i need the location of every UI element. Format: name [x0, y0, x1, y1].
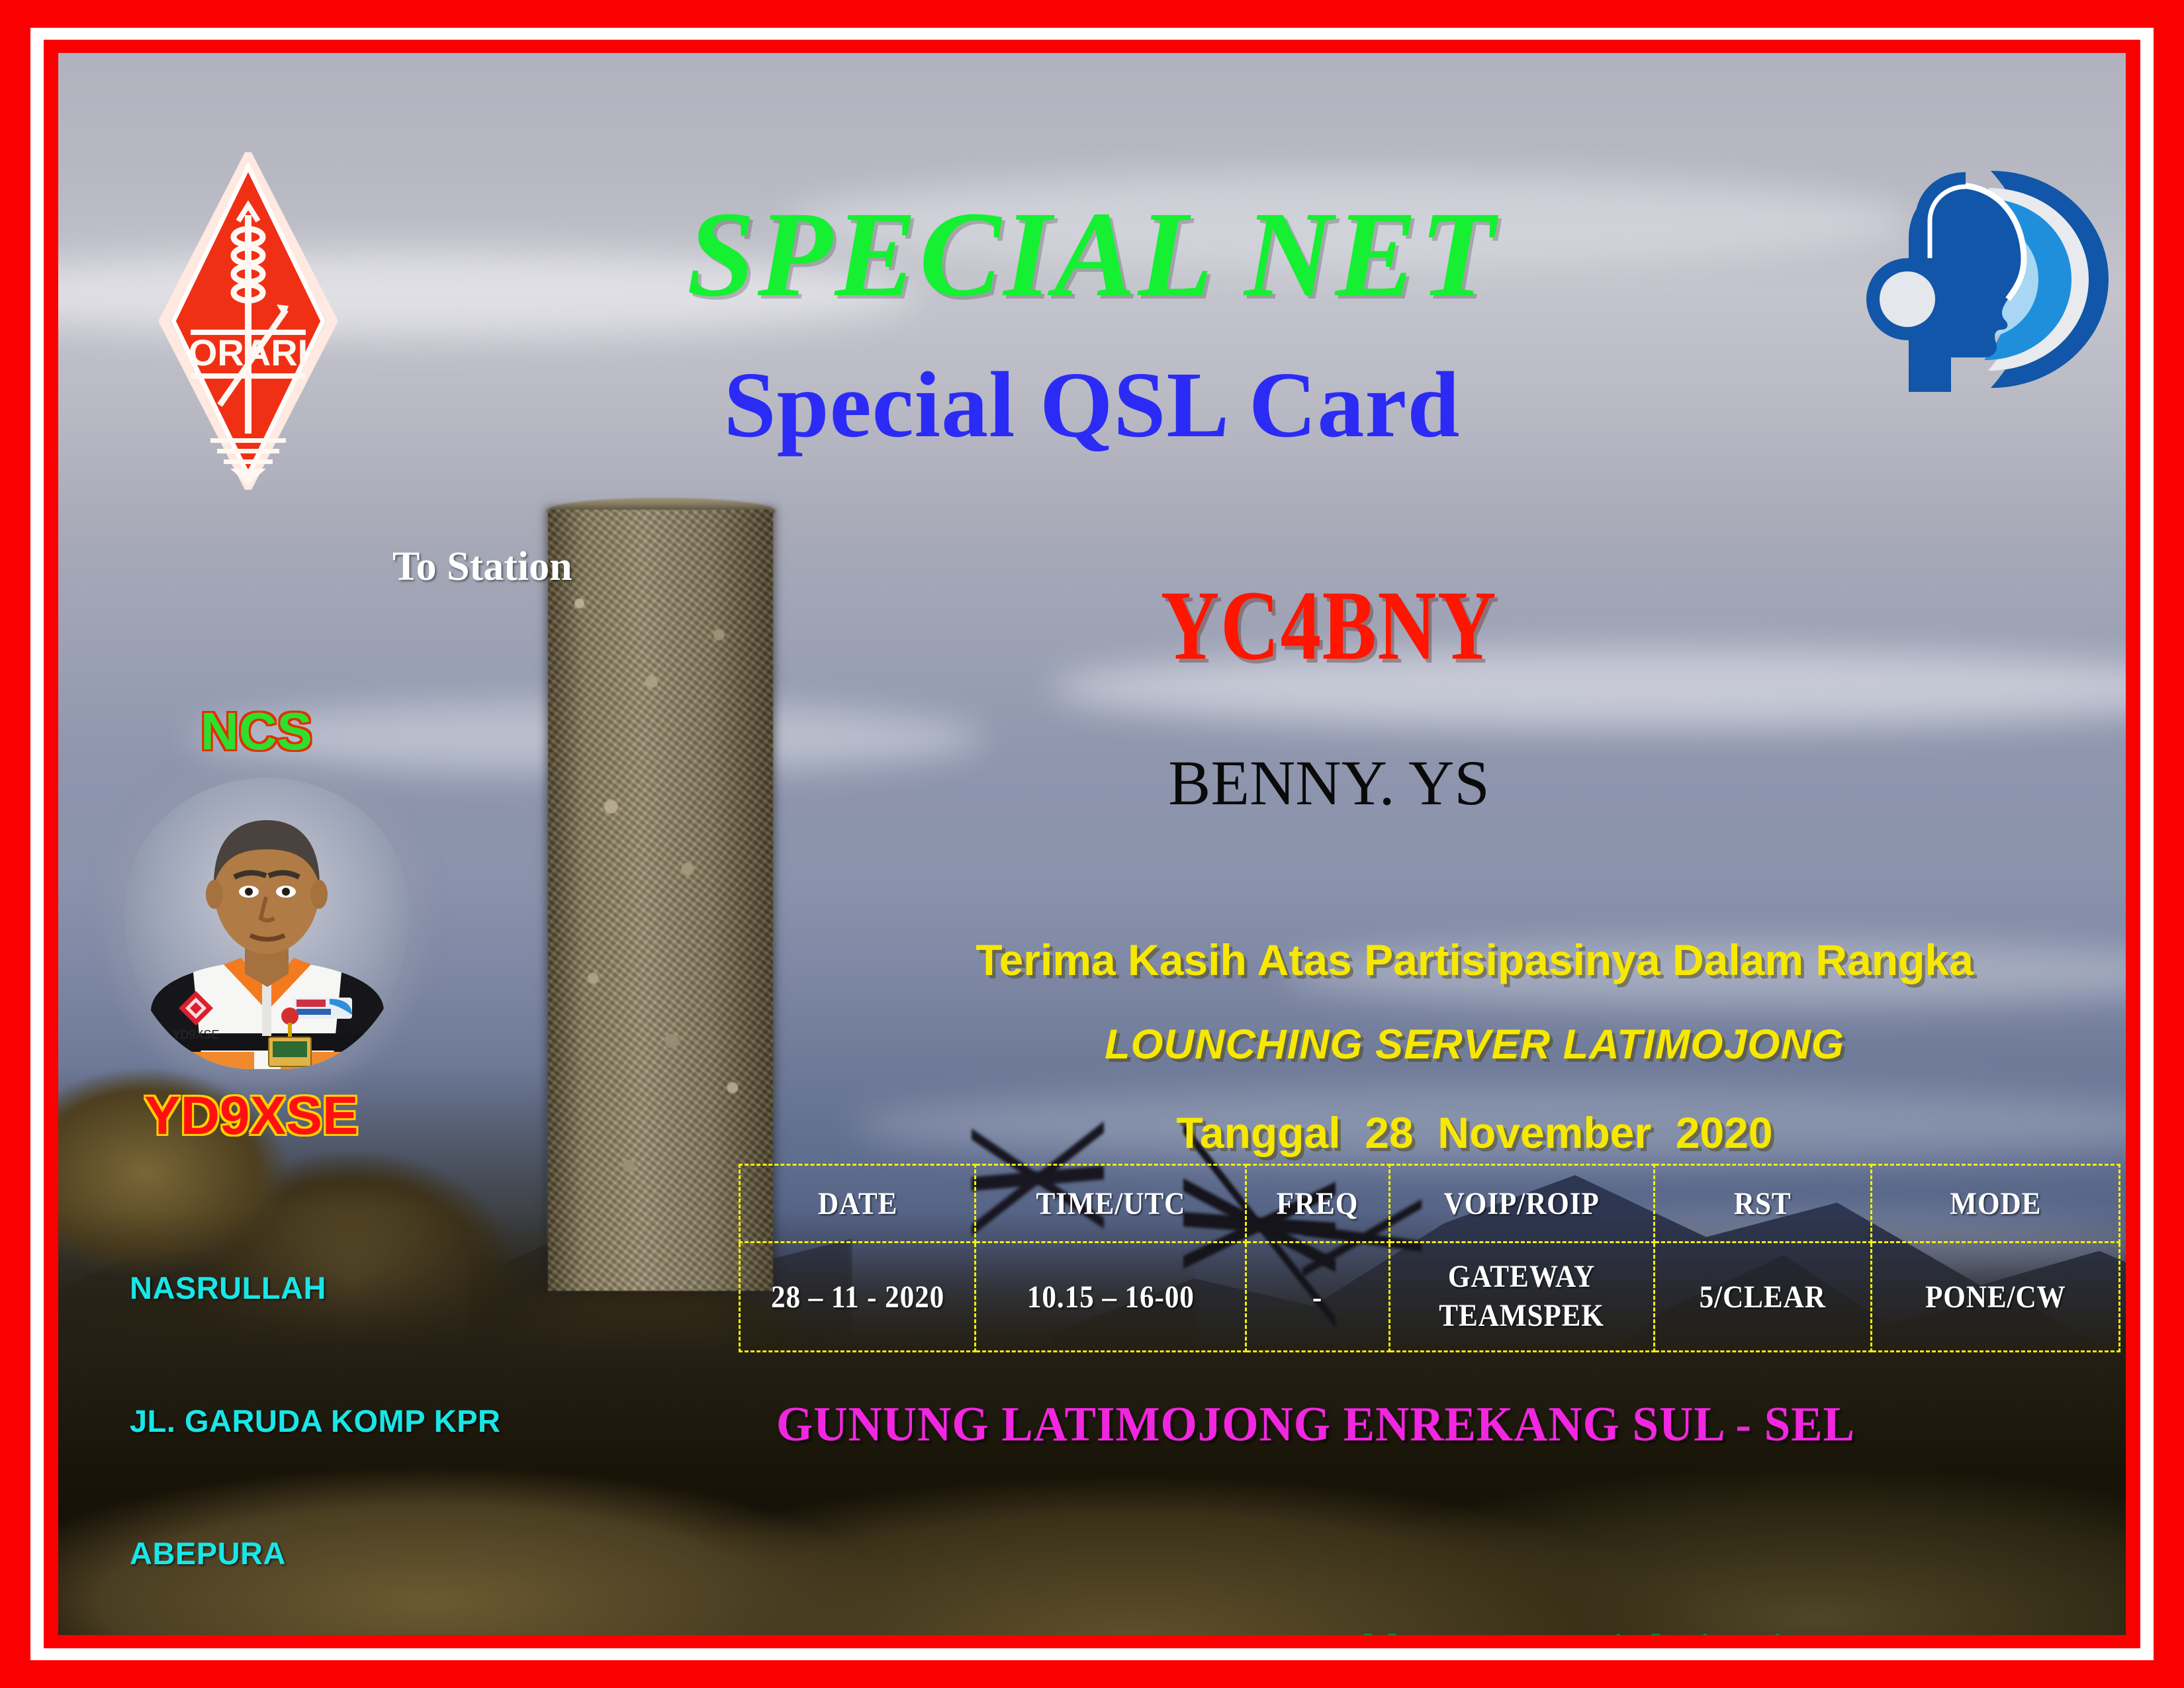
th-date: DATE: [751, 1165, 963, 1243]
address-line: JL. GARUDA KOMP KPR: [130, 1399, 621, 1444]
td-freq: -: [1253, 1243, 1382, 1352]
card-background-photo: ORARI: [58, 53, 2126, 1635]
footer-website: Address : amatir.latimojong.com: [1319, 1628, 1940, 1635]
card-inner-red-frame: ORARI: [44, 40, 2140, 1648]
footer-slogan: "AMATIR RADIO ADALAH PROGRESIVE": [131, 1628, 1001, 1635]
td-voip: GATEWAY TEAMSPEK: [1402, 1243, 1641, 1352]
event-name-line: LOUNCHING SERVER LATIMOJONG: [826, 1024, 2123, 1066]
ncs-callsign: YD9XSE: [144, 1089, 359, 1143]
th-mode: MODE: [1884, 1165, 2107, 1243]
th-time: TIME/UTC: [989, 1165, 1232, 1243]
th-rst: RST: [1665, 1165, 1861, 1243]
td-time: 10.15 – 16-00: [989, 1243, 1232, 1352]
callsign-text: YC4BNY: [927, 576, 1731, 675]
ncs-label: NCS: [201, 705, 312, 758]
to-station-label: To Station: [392, 546, 572, 587]
card-white-frame: ORARI: [30, 28, 2154, 1660]
qsl-card: ORARI: [0, 0, 2184, 1688]
td-rst: 5/CLEAR: [1665, 1243, 1861, 1352]
table-row: 28 – 11 - 2020 10.15 – 16-00 - GATEWAY T…: [740, 1243, 2120, 1352]
location-text: GUNUNG LATIMOJONG ENREKANG SUL - SEL: [712, 1400, 1919, 1449]
qso-details-table: DATE TIME/UTC FREQ VOIP/ROIP RST MODE 28…: [739, 1164, 2120, 1352]
address-line: ABEPURA: [130, 1532, 621, 1576]
td-mode: PONE/CW: [1884, 1243, 2107, 1352]
td-date: 28 – 11 - 2020: [751, 1243, 963, 1352]
event-date-line: Tanggal 28 November 2020: [826, 1111, 2123, 1154]
page-title: SPECIAL NET: [58, 193, 2126, 316]
page-subtitle: Special QSL Card: [58, 357, 2126, 451]
thanks-line-1: Terima Kasih Atas Partisipasinya Dalam R…: [826, 938, 2123, 982]
th-voip: VOIP/ROIP: [1402, 1165, 1641, 1243]
table-header-row: DATE TIME/UTC FREQ VOIP/ROIP RST MODE: [740, 1165, 2120, 1243]
thanks-message-block: Terima Kasih Atas Partisipasinya Dalam R…: [826, 917, 2123, 1176]
address-line: NASRULLAH: [130, 1266, 621, 1311]
uniform-callsign-text: YD9XSE: [172, 1028, 219, 1041]
address-block: NASRULLAH JL. GARUDA KOMP KPR ABEPURA PE…: [130, 1178, 621, 1635]
th-freq: FREQ: [1253, 1165, 1382, 1243]
operator-name-text: BENNY. YS: [839, 751, 1819, 815]
operator-portrait-avatar: YD9XSE: [124, 778, 409, 1069]
